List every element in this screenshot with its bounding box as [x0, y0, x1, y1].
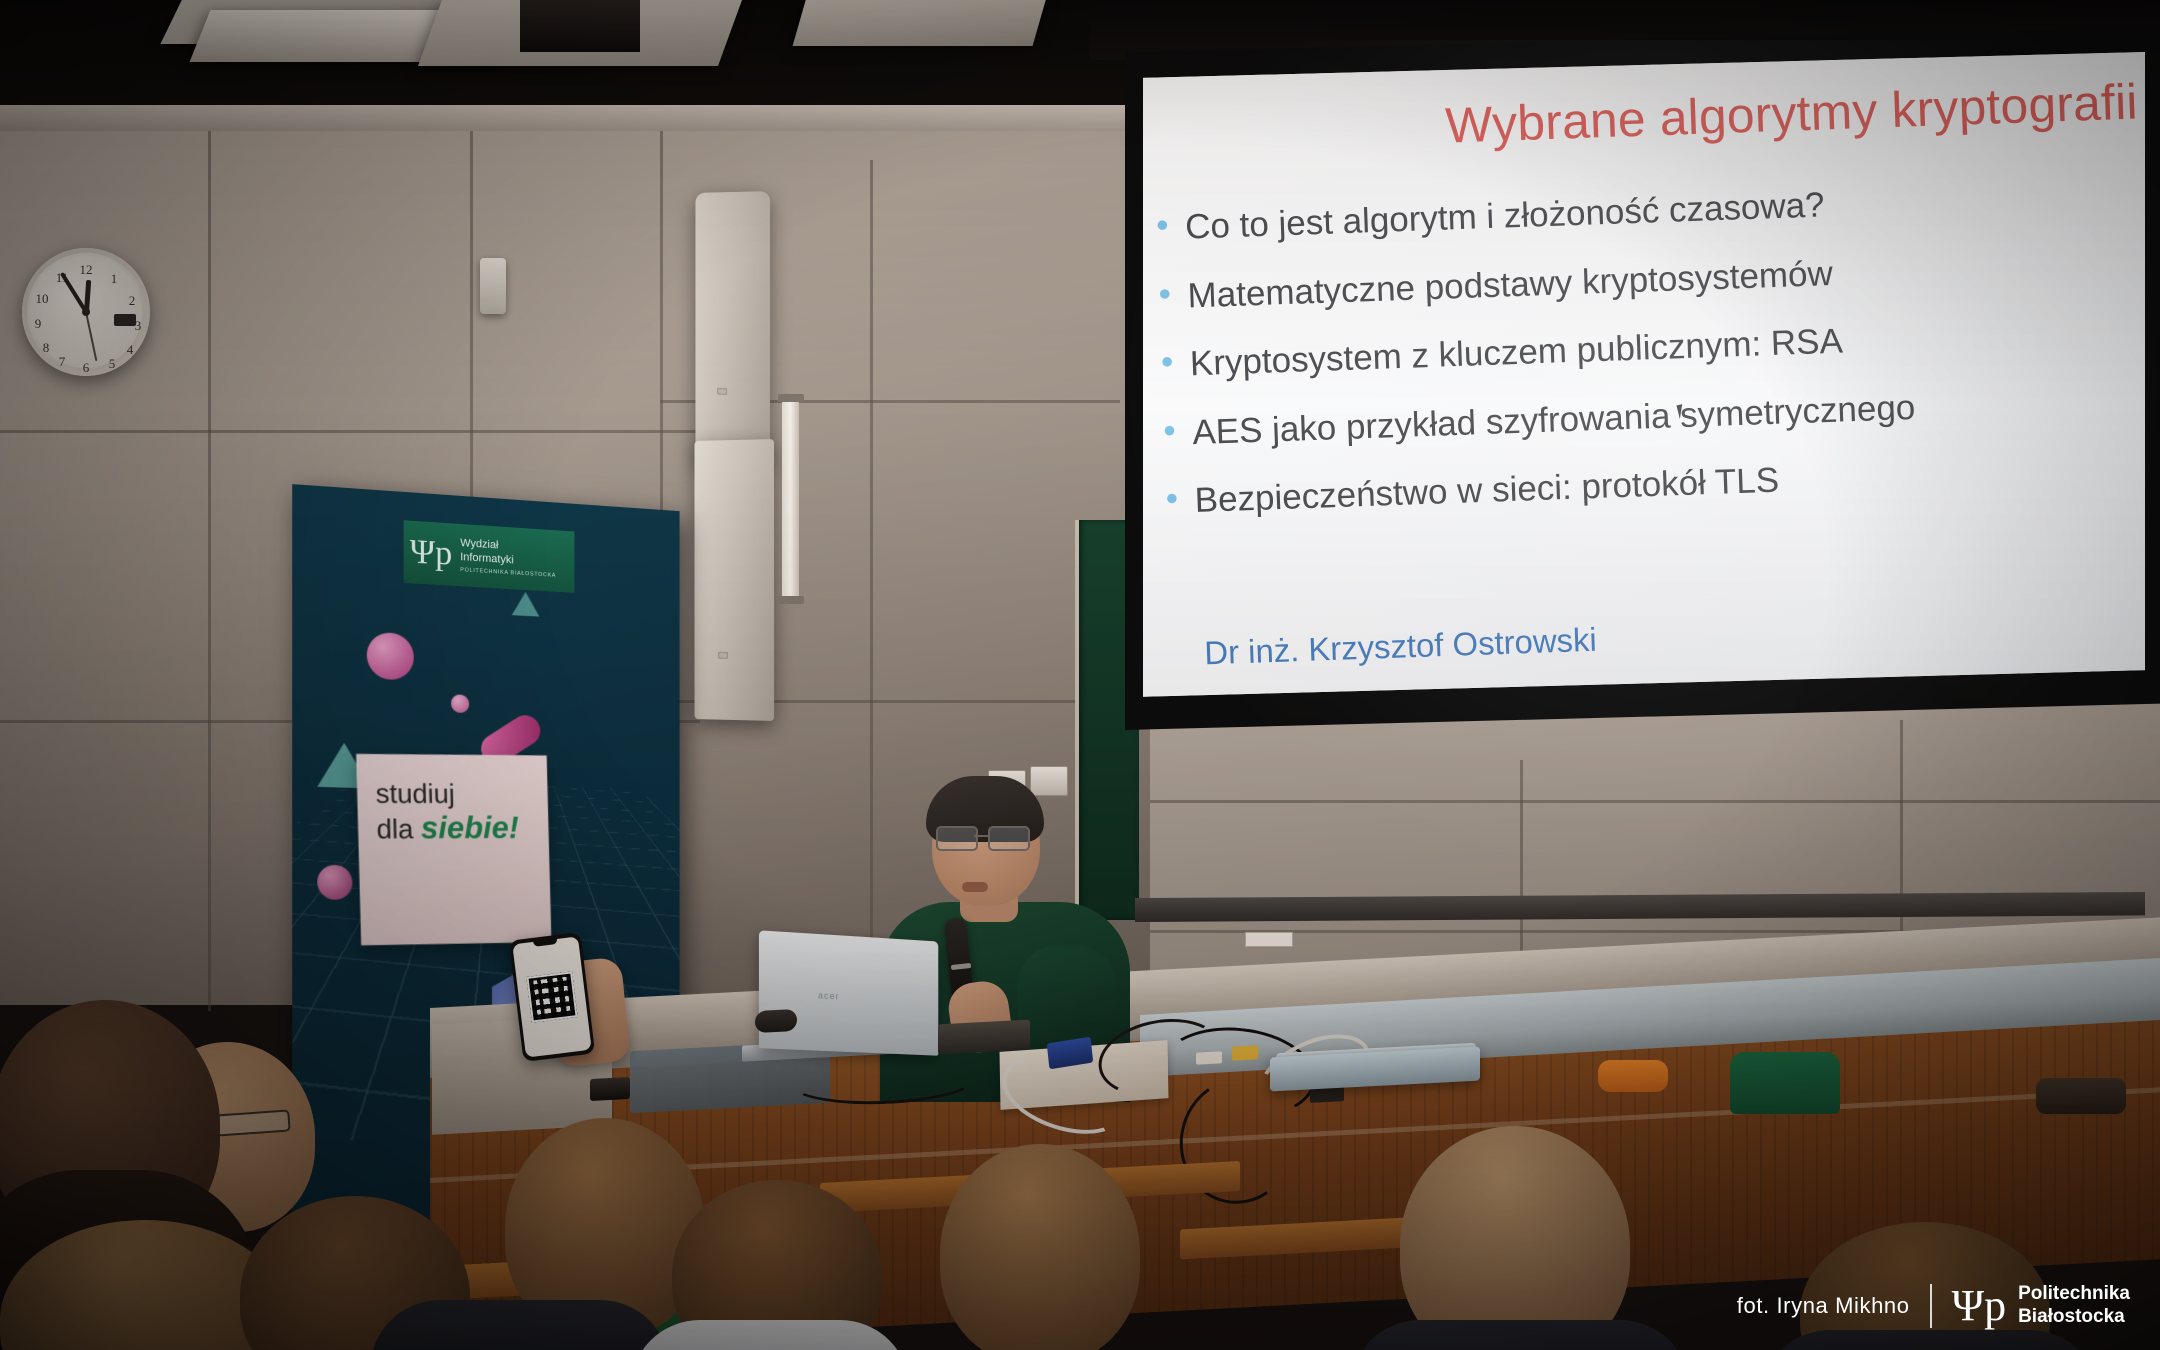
- wall-seam: [208, 131, 211, 1011]
- clock-date-window: [114, 314, 136, 326]
- bullet-dot-icon: [1162, 357, 1172, 367]
- wall-top-strip: [0, 105, 1210, 131]
- slide-bullet-list: Co to jest algorytm i złożoność czasowa?…: [1150, 169, 2145, 546]
- bullet-text: Kryptosystem z kluczem publicznym: RSA: [1189, 317, 1843, 388]
- slogan-line2: dla siebie!: [376, 812, 549, 843]
- bullet-dot-icon: [1157, 220, 1167, 230]
- bullet-text: Bezpieczeństwo w sieci: protokół TLS: [1194, 456, 1780, 525]
- banner-sphere: [317, 865, 352, 900]
- presenter-glasses-icon: [936, 826, 1034, 848]
- slogan-line1: studiuj: [375, 780, 548, 808]
- speaker-column-bottom: [694, 439, 774, 721]
- bullet-dot-icon: [1160, 289, 1170, 299]
- university-line1: Politechnika: [2018, 1283, 2130, 1305]
- tube-cap: [778, 596, 804, 604]
- clock-number: 5: [104, 356, 120, 372]
- clock-second-hand: [85, 312, 97, 361]
- lecture-hall-photo: 12 1 2 3 4 5 6 7 8 9 10 11: [0, 0, 2160, 1350]
- list-item: Kryptosystem z kluczem publicznym: RSA: [1155, 306, 2145, 389]
- watermark-divider: [1930, 1284, 1932, 1328]
- desk-small-object: [1196, 1051, 1222, 1064]
- list-item: Co to jest algorytm i złożoność czasowa?: [1150, 169, 2145, 252]
- screen-label-tag: [1245, 932, 1293, 947]
- clock-number: 8: [38, 340, 54, 356]
- clock-number: 6: [78, 360, 94, 376]
- bullet-text: Matematyczne podstawy kryptosystemów: [1187, 248, 1834, 319]
- faculty-logo-mark-icon: Ψp: [410, 535, 452, 572]
- speaker-column-top: [695, 191, 770, 463]
- glasses-right-lens: [988, 826, 1030, 851]
- chair-orange: [1598, 1060, 1668, 1092]
- screen-bottom-bar: [1135, 892, 2145, 922]
- list-item: Matematyczne podstawy kryptosystemów: [1153, 237, 2145, 320]
- university-logo: Ψp Politechnika Białostocka: [1952, 1283, 2130, 1328]
- slide-surface: Wybrane algorytmy kryptografii Co to jes…: [1143, 52, 2145, 860]
- faculty-logo-text: Wydział Informatyki POLITECHNIKA BIAŁOST…: [460, 537, 556, 579]
- wall-seam: [870, 160, 873, 1020]
- presenter-mouth: [962, 882, 988, 892]
- speaker-led-icon: [717, 388, 727, 395]
- phone-screen: [512, 936, 591, 1057]
- fluorescent-tube-light: [782, 400, 799, 600]
- audience-head: [1400, 1126, 1630, 1350]
- tube-cap: [778, 394, 804, 402]
- wall-socket: [1030, 766, 1068, 796]
- banner-slogan-card: studiuj dla siebie!: [356, 754, 551, 945]
- glasses-left-lens: [936, 826, 978, 851]
- chair-dark: [2036, 1078, 2126, 1114]
- ceiling-panel: [793, 0, 1048, 46]
- power-adapter: [938, 1020, 1030, 1055]
- projection-screen: Wybrane algorytmy kryptografii Co to jes…: [1125, 26, 2160, 956]
- clock-minute-hand: [60, 272, 88, 313]
- clock-number: 10: [34, 291, 50, 307]
- photo-watermark: fot. Iryna Mikhno Ψp Politechnika Białos…: [1737, 1283, 2130, 1328]
- banner-sphere: [367, 632, 414, 681]
- clock-number: 2: [124, 293, 140, 309]
- bullet-dot-icon: [1167, 494, 1177, 504]
- wall-clock: 12 1 2 3 4 5 6 7 8 9 10 11: [22, 248, 150, 376]
- audience-shoulders: [1350, 1320, 1690, 1350]
- banner-triangle: [512, 591, 540, 616]
- laptop-brand-label: acer: [818, 990, 840, 1001]
- photo-credit: fot. Iryna Mikhno: [1737, 1293, 1910, 1319]
- slide-author: Dr inż. Krzysztof Ostrowski: [1204, 621, 1598, 673]
- bullet-dot-icon: [1165, 425, 1175, 435]
- clock-number: 7: [54, 354, 70, 370]
- clock-number: 9: [30, 316, 46, 332]
- university-line2: Białostocka: [2018, 1306, 2130, 1328]
- clock-face: 12 1 2 3 4 5 6 7 8 9 10 11: [30, 256, 142, 368]
- speaker-led-icon: [718, 652, 728, 659]
- slide-title: Wybrane algorytmy kryptografii: [1228, 72, 2139, 162]
- ceiling-duct: [520, 0, 640, 52]
- clock-number: 12: [78, 262, 94, 278]
- bullet-text: AES jako przykład szyfrowania symetryczn…: [1192, 382, 1916, 455]
- slogan-accent: siebie!: [420, 810, 519, 845]
- list-item: AES jako przykład szyfrowania symetryczn…: [1158, 374, 2145, 457]
- laptop-presenter: acer: [759, 930, 938, 1055]
- audience-shoulders: [1760, 1330, 2100, 1350]
- banner-sphere: [451, 694, 469, 713]
- clock-number: 4: [122, 342, 138, 358]
- smartphone: [509, 932, 595, 1062]
- bullet-text: Co to jest algorytm i złożoność czasowa?: [1184, 180, 1825, 251]
- desk-small-object: [1232, 1045, 1258, 1060]
- wall-seam: [0, 430, 700, 433]
- clock-center-cap: [82, 308, 90, 316]
- audience-shoulders: [370, 1300, 670, 1350]
- usb-device: [590, 1077, 630, 1101]
- wall-sensor: [480, 258, 506, 314]
- clock-number: 1: [106, 271, 122, 287]
- slogan-plain: dla: [376, 814, 421, 844]
- university-logo-mark-icon: Ψp: [1952, 1287, 2006, 1324]
- university-logo-text: Politechnika Białostocka: [2018, 1283, 2130, 1328]
- faculty-logo: Ψp Wydział Informatyki POLITECHNIKA BIAŁ…: [404, 520, 575, 593]
- projected-slide: Wybrane algorytmy kryptografii Co to jes…: [1143, 52, 2145, 860]
- audience-head: [940, 1144, 1140, 1350]
- glasses-bridge: [974, 835, 988, 837]
- list-item: Bezpieczeństwo w sieci: protokół TLS: [1160, 443, 2145, 526]
- slide-date: 18.02.2025: [1168, 812, 1275, 840]
- mouse-device: [755, 1009, 797, 1033]
- chair-green: [1730, 1052, 1840, 1114]
- qr-code-icon: [526, 971, 577, 1022]
